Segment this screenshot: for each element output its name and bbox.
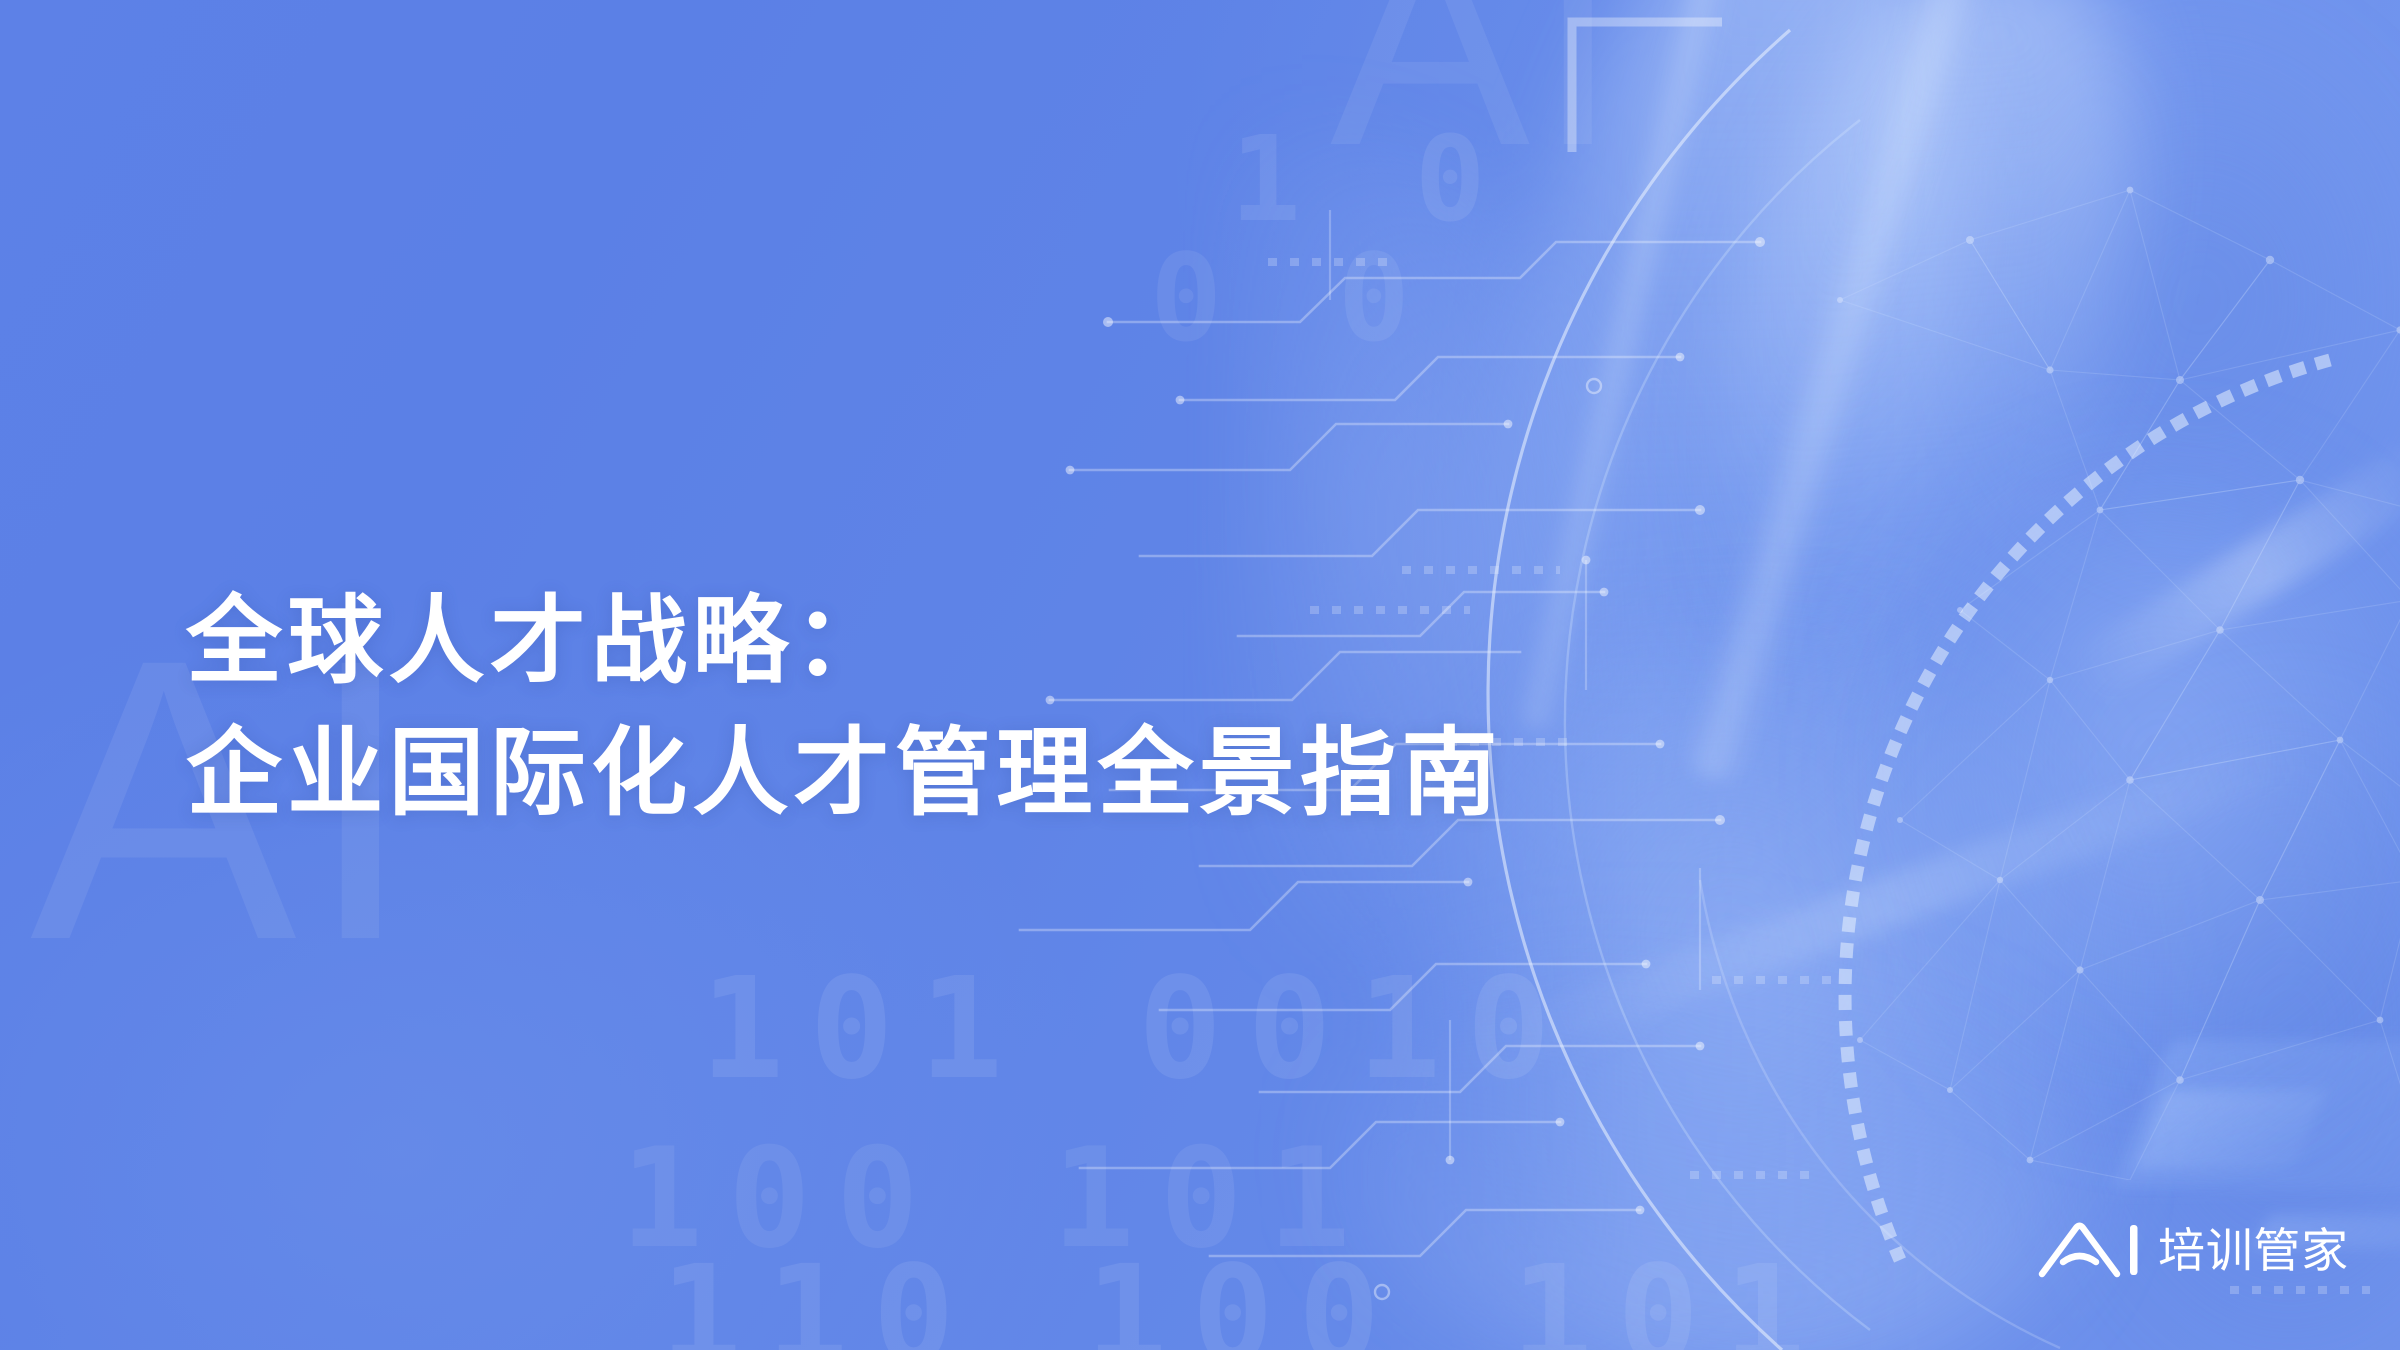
ai-logo-mark-icon — [2038, 1222, 2145, 1278]
polygon-mesh-overlay — [1800, 180, 2400, 1180]
brand-logo-text: 培训管家 — [2158, 1227, 2349, 1274]
cover-slide: 1 0 0 0 101 0010 100 101 110 100 101 AI … — [0, 0, 2400, 1350]
title-line-2: 企业国际化人才管理全景指南 — [186, 708, 1606, 840]
slide-title: 全球人才战略： 企业国际化人才管理全景指南 — [186, 576, 1606, 841]
title-line-1: 全球人才战略： — [186, 576, 1606, 708]
brand-logo: 培训管家 — [2038, 1222, 2349, 1278]
